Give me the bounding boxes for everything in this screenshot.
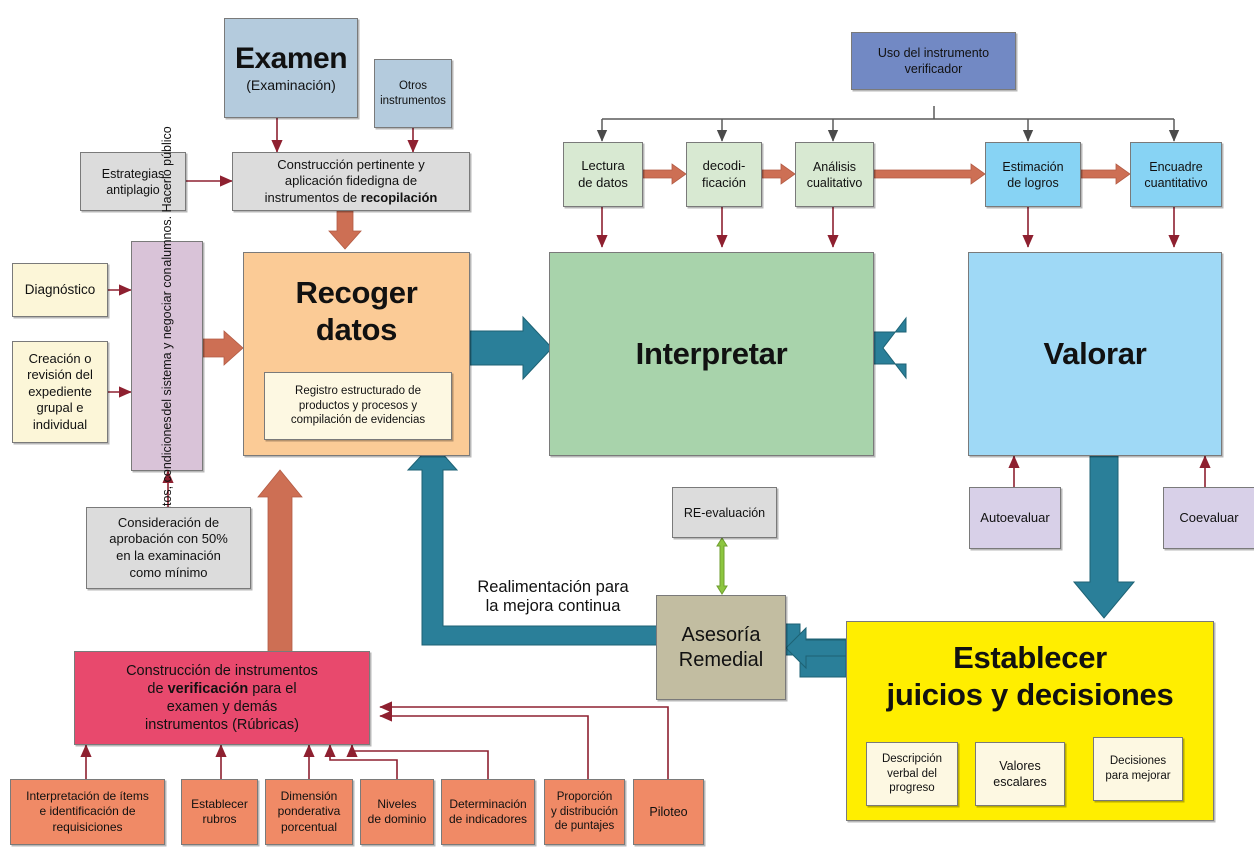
valores-l1: Valores — [973, 758, 1067, 774]
recoger-datos-l1: Recoger — [241, 275, 472, 312]
registro-l3: compilación de evidencias — [262, 413, 454, 428]
asesoria-l1: Asesoría — [654, 623, 788, 647]
construccion-recop-l1: Construcción pertinente y — [230, 157, 472, 174]
node-re-evaluacion[interactable]: RE-evaluación — [672, 487, 777, 538]
node-interpretar[interactable]: Interpretar — [549, 252, 874, 456]
decodificacion-l1: decodi- — [684, 158, 764, 175]
interpretacion-items-l1: Interpretación de ítems — [8, 789, 167, 804]
recoger-datos-l2: datos — [241, 312, 472, 349]
node-proporcion-distribucion[interactable]: Proporción y distribución de puntajes — [544, 779, 625, 845]
uso-instrumento-l2: verificador — [849, 61, 1018, 77]
node-valores-escalares[interactable]: Valores escalares — [975, 742, 1065, 806]
node-estimacion-logros[interactable]: Estimación de logros — [985, 142, 1081, 207]
re-evaluacion-label: RE-evaluación — [673, 505, 776, 521]
node-niveles-dominio[interactable]: Niveles de dominio — [360, 779, 434, 845]
definir-l2: del sistema y negociar con — [160, 267, 174, 415]
construccion-verif-l2-bold: verificación — [168, 681, 249, 697]
determinacion-l2: de indicadores — [439, 812, 537, 827]
descripcion-l2: verbal del — [864, 767, 960, 782]
niveles-l1: Niveles — [358, 797, 436, 812]
node-determinacion-indicadores[interactable]: Determinación de indicadores — [441, 779, 535, 845]
node-uso-instrumento-verificador[interactable]: Uso del instrumento verificador — [851, 32, 1016, 90]
dimension-l3: porcentual — [263, 820, 355, 835]
construccion-recop-l2: aplicación fidedigna de — [230, 173, 472, 190]
node-asesoria-remedial[interactable]: Asesoría Remedial — [656, 595, 786, 700]
registro-l1: Registro estructurado de — [262, 384, 454, 399]
otros-instrumentos-l2: instrumentos — [372, 94, 454, 109]
node-examen[interactable]: Examen (Examinación) — [224, 18, 358, 118]
decisiones-l2: para mejorar — [1091, 769, 1185, 784]
proporcion-l3: de puntajes — [542, 819, 627, 834]
descripcion-l1: Descripción — [864, 752, 960, 767]
establecer-rubros-l1: Establecer — [179, 797, 260, 812]
node-consideracion-aprobacion[interactable]: Consideración de aprobación con 50% en l… — [86, 507, 251, 589]
otros-instrumentos-l1: Otros — [372, 79, 454, 94]
dimension-l1: Dimensión — [263, 789, 355, 804]
analisis-l1: Análisis — [793, 159, 876, 175]
node-decodificacion[interactable]: decodi- ficación — [686, 142, 762, 207]
autoevaluar-label: Autoevaluar — [970, 510, 1060, 527]
construccion-verif-l2: de verificación para el — [72, 680, 372, 698]
establecer-l2: juicios y decisiones — [844, 677, 1216, 714]
niveles-l2: de dominio — [358, 812, 436, 827]
node-construccion-recopilacion[interactable]: Construcción pertinente y aplicación fid… — [232, 152, 470, 211]
interpretar-label: Interpretar — [550, 336, 873, 373]
asesoria-l2: Remedial — [654, 648, 788, 672]
realimentacion-l1: Realimentación para — [455, 578, 651, 597]
encuadre-l1: Encuadre — [1128, 159, 1224, 175]
construccion-verif-l3: examen y demás — [72, 698, 372, 716]
interpretacion-items-l3: requisiciones — [8, 820, 167, 835]
node-dimension-ponderativa[interactable]: Dimensión ponderativa porcentual — [265, 779, 353, 845]
consideracion-l2: aprobación con 50% — [84, 531, 253, 548]
node-encuadre-cuantitativo[interactable]: Encuadre cuantitativo — [1130, 142, 1222, 207]
node-analisis-cualitativo[interactable]: Análisis cualitativo — [795, 142, 874, 207]
node-lectura-de-datos[interactable]: Lectura de datos — [563, 142, 643, 207]
creacion-l3: expediente — [10, 384, 110, 401]
label-realimentacion: Realimentación para la mejora continua — [455, 578, 651, 616]
flowchart-canvas: Examen (Examinación) Otros instrumentos … — [0, 0, 1254, 851]
encuadre-l2: cuantitativo — [1128, 175, 1224, 191]
analisis-l2: cualitativo — [793, 175, 876, 191]
determinacion-l1: Determinación — [439, 797, 537, 812]
node-creacion-revision[interactable]: Creación o revisión del expediente grupa… — [12, 341, 108, 443]
creacion-l4: grupal e — [10, 400, 110, 417]
examen-subtitle: (Examinación) — [222, 77, 360, 95]
construccion-verif-l1: Construcción de instrumentos — [72, 662, 372, 680]
creacion-l5: individual — [10, 417, 110, 434]
consideracion-l4: como mínimo — [84, 565, 253, 582]
node-coevaluar[interactable]: Coevaluar — [1163, 487, 1254, 549]
node-descripcion-verbal[interactable]: Descripción verbal del progreso — [866, 742, 958, 806]
node-establecer-rubros[interactable]: Establecer rubros — [181, 779, 258, 845]
lectura-l1: Lectura — [561, 158, 645, 175]
coevaluar-label: Coevaluar — [1164, 510, 1254, 527]
creacion-l2: revisión del — [10, 367, 110, 384]
examen-title: Examen — [222, 41, 360, 77]
construccion-verif-l4: instrumentos (Rúbricas) — [72, 716, 372, 734]
construccion-recop-l3-bold: recopilación — [361, 190, 438, 205]
creacion-l1: Creación o — [10, 351, 110, 368]
estimacion-l1: Estimación — [983, 159, 1083, 175]
consideracion-l1: Consideración de — [84, 515, 253, 532]
valores-l2: escalares — [973, 774, 1067, 790]
uso-instrumento-l1: Uso del instrumento — [849, 45, 1018, 61]
realimentacion-l2: la mejora continua — [455, 597, 651, 616]
decodificacion-l2: ficación — [684, 175, 764, 192]
interpretacion-items-l2: e identificación de — [8, 804, 167, 819]
piloteo-l1: Piloteo — [634, 804, 703, 820]
proporcion-l2: y distribución — [542, 805, 627, 820]
node-otros-instrumentos[interactable]: Otros instrumentos — [374, 59, 452, 128]
definir-l3: alumnos. Hacerlo público — [160, 126, 174, 266]
node-registro-estructurado[interactable]: Registro estructurado de productos y pro… — [264, 372, 452, 440]
node-interpretacion-items[interactable]: Interpretación de ítems e identificación… — [10, 779, 165, 845]
construccion-recop-l3: instrumentos de recopilación — [230, 190, 472, 207]
proporcion-l1: Proporción — [542, 790, 627, 805]
valorar-label: Valorar — [969, 336, 1221, 373]
establecer-l1: Establecer — [844, 640, 1216, 677]
node-diagnostico[interactable]: Diagnóstico — [12, 263, 108, 317]
node-piloteo[interactable]: Piloteo — [633, 779, 704, 845]
construccion-verif-l2-post: para el — [248, 681, 296, 697]
node-valorar[interactable]: Valorar — [968, 252, 1222, 456]
node-decisiones-mejorar[interactable]: Decisiones para mejorar — [1093, 737, 1183, 801]
construccion-verif-l2-pre: de — [147, 681, 167, 697]
descripcion-l3: progreso — [864, 781, 960, 796]
diagnostico-label: Diagnóstico — [13, 281, 107, 298]
dimension-l2: ponderativa — [263, 804, 355, 819]
estimacion-l2: de logros — [983, 175, 1083, 191]
decisiones-l1: Decisiones — [1091, 754, 1185, 769]
node-autoevaluar[interactable]: Autoevaluar — [969, 487, 1061, 549]
consideracion-l3: en la examinación — [84, 548, 253, 565]
construccion-recop-l3-pre: instrumentos de — [265, 190, 361, 205]
registro-l2: productos y procesos y — [262, 399, 454, 414]
establecer-rubros-l2: rubros — [179, 812, 260, 827]
node-definir-elementos[interactable]: Definir elementos, condiciones del siste… — [131, 241, 203, 471]
node-construccion-verificacion[interactable]: Construcción de instrumentos de verifica… — [74, 651, 370, 745]
lectura-l2: de datos — [561, 175, 645, 192]
